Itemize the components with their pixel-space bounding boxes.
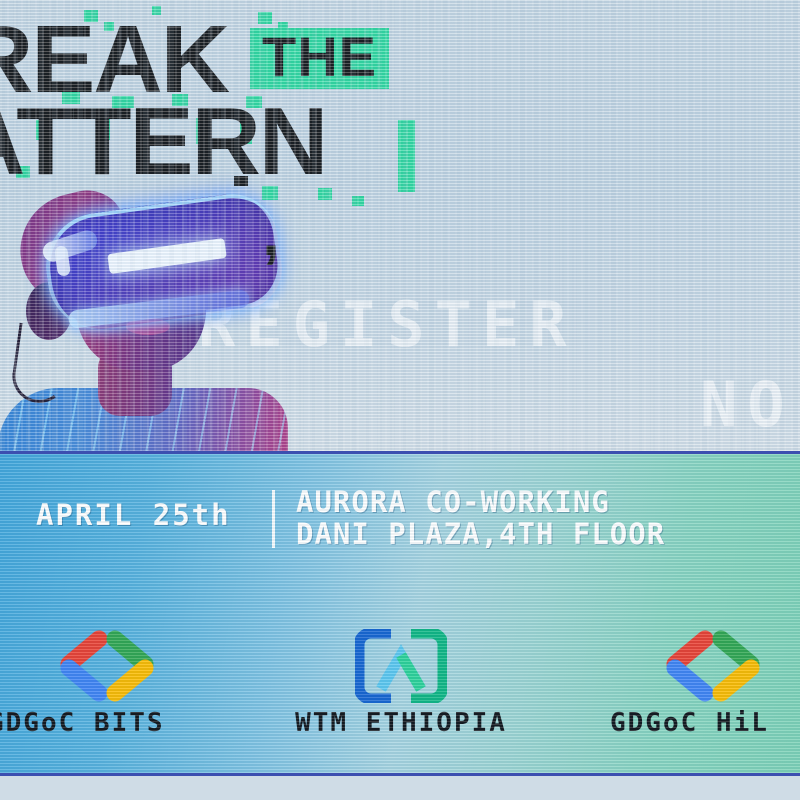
sponsor-label: GDGoC HiL [588, 708, 800, 738]
sponsor-label: WTM ETHIOPIA [276, 708, 526, 738]
venue-line-1: AURORA CO-WORKING [296, 486, 665, 518]
gdg-chevron-icon [0, 630, 232, 702]
event-details-row: APRIL 25th AURORA CO-WORKING DANI PLAZA,… [0, 474, 800, 564]
info-band: APRIL 25th AURORA CO-WORKING DANI PLAZA,… [0, 454, 800, 773]
sponsor-gdgoc-hil: GDGoC HiL [588, 630, 800, 738]
hero-section: REAKTHE ATTERN , REGISTER NO [0, 0, 800, 453]
sponsor-wtm-ethiopia: WTM ETHIOPIA [276, 630, 526, 738]
gdg-chevron-icon-svg [648, 630, 778, 702]
sponsor-logo-row: GDGoC BITS WTM ETHIOPIA [0, 630, 800, 770]
sponsor-label: GDGoC BITS [0, 708, 232, 738]
glitch-shard [352, 196, 364, 206]
detail-separator [272, 490, 275, 548]
band-footer-divider [0, 773, 800, 776]
hero-band-divider [0, 451, 800, 454]
headline-highlight-the: THE [250, 28, 389, 89]
headline-line-2: ATTERN [0, 100, 326, 184]
gdg-chevron-icon-svg [42, 630, 172, 702]
gdg-chevron-icon [588, 630, 800, 702]
glitch-shard [398, 120, 415, 192]
sponsor-gdgoc-bits: GDGoC BITS [0, 630, 232, 738]
event-venue: AURORA CO-WORKING DANI PLAZA,4TH FLOOR [296, 486, 665, 551]
event-poster: REAKTHE ATTERN , REGISTER NO [0, 0, 800, 800]
venue-line-2: DANI PLAZA,4TH FLOOR [296, 518, 665, 550]
wtm-icon [276, 630, 526, 702]
vr-headset-portrait-image [0, 150, 300, 453]
event-date: APRIL 25th [36, 498, 231, 532]
now-ghost-text: NO [700, 368, 795, 441]
headline-comma: , [262, 196, 280, 270]
wtm-icon-svg [355, 629, 447, 703]
